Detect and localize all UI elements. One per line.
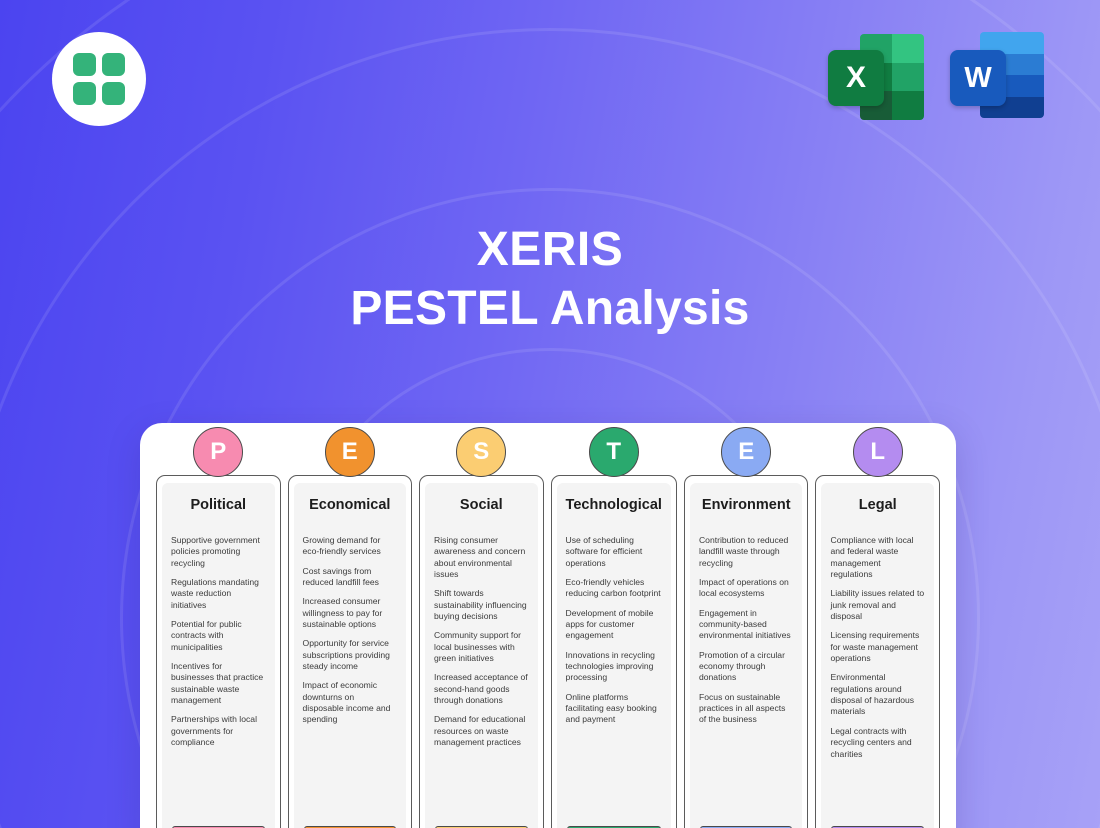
pestel-column-economical[interactable]: EEconomicalGrowing demand for eco-friend… [288,475,413,828]
column-bullet-list: Rising consumer awareness and concern ab… [434,535,529,826]
list-item: Compliance with local and federal waste … [830,535,925,580]
pestel-columns: PPoliticalSupportive government policies… [156,475,940,828]
list-item: Engagement in community-based environmen… [699,608,794,642]
column-heading: Technological [566,497,662,513]
logo-tile [102,82,125,105]
logo-tile [73,82,96,105]
column-panel: TechnologicalUse of scheduling software … [557,483,671,828]
list-item: Eco-friendly vehicles reducing carbon fo… [566,577,662,600]
column-heading: Legal [830,497,925,513]
list-item: Innovations in recycling technologies im… [566,650,662,684]
list-item: Legal contracts with recycling centers a… [830,726,925,760]
letter-badge: L [853,427,903,477]
letter-badge: E [325,427,375,477]
brand-logo [52,32,146,126]
column-bullet-list: Compliance with local and federal waste … [830,535,925,826]
letter-badge: P [193,427,243,477]
letter-badge: E [721,427,771,477]
letter-badge: S [456,427,506,477]
list-item: Promotion of a circular economy through … [699,650,794,684]
list-item: Partnerships with local governments for … [171,714,266,748]
list-item: Environmental regulations around disposa… [830,672,925,717]
list-item: Development of mobile apps for customer … [566,608,662,642]
column-bullet-list: Supportive government policies promoting… [171,535,266,826]
list-item: Contribution to reduced landfill waste t… [699,535,794,569]
column-bullet-list: Growing demand for eco-friendly services… [303,535,398,826]
column-panel: EconomicalGrowing demand for eco-friendl… [294,483,407,828]
list-item: Online platforms facilitating easy booki… [566,692,662,726]
column-bullet-list: Contribution to reduced landfill waste t… [699,535,794,826]
list-item: Community support for local businesses w… [434,630,529,664]
column-bullet-list: Use of scheduling software for efficient… [566,535,662,826]
column-heading: Economical [303,497,398,513]
list-item: Increased consumer willingness to pay fo… [303,596,398,630]
pestel-column-political[interactable]: PPoliticalSupportive government policies… [156,475,281,828]
pestel-column-social[interactable]: SSocialRising consumer awareness and con… [419,475,544,828]
list-item: Regulations mandating waste reduction in… [171,577,266,611]
word-letter: W [950,50,1006,106]
list-item: Rising consumer awareness and concern ab… [434,535,529,580]
list-item: Use of scheduling software for efficient… [566,535,662,569]
column-heading: Political [171,497,266,513]
pestel-column-environment[interactable]: EEnvironmentContribution to reduced land… [684,475,809,828]
list-item: Liability issues related to junk removal… [830,588,925,622]
list-item: Impact of operations on local ecosystems [699,577,794,600]
column-heading: Environment [699,497,794,513]
list-item: Potential for public contracts with muni… [171,619,266,653]
column-panel: EnvironmentContribution to reduced landf… [690,483,803,828]
excel-icon[interactable]: X [828,28,926,120]
list-item: Demand for educational resources on wast… [434,714,529,748]
title-brand: XERIS [0,222,1100,278]
list-item: Impact of economic downturns on disposab… [303,680,398,725]
pestel-column-technological[interactable]: TTechnologicalUse of scheduling software… [551,475,677,828]
list-item: Supportive government policies promoting… [171,535,266,569]
list-item: Incentives for businesses that practice … [171,661,266,706]
list-item: Growing demand for eco-friendly services [303,535,398,558]
logo-tile [102,53,125,76]
office-app-icons: X W [828,28,1046,120]
column-panel: LegalCompliance with local and federal w… [821,483,934,828]
letter-badge: T [589,427,639,477]
list-item: Licensing requirements for waste managem… [830,630,925,664]
list-item: Increased acceptance of second-hand good… [434,672,529,706]
column-panel: SocialRising consumer awareness and conc… [425,483,538,828]
list-item: Focus on sustainable practices in all as… [699,692,794,726]
list-item: Opportunity for service subscriptions pr… [303,638,398,672]
list-item: Shift towards sustainability influencing… [434,588,529,622]
pestel-card: PPoliticalSupportive government policies… [140,423,956,828]
page-title: XERIS PESTEL Analysis [0,222,1100,340]
column-heading: Social [434,497,529,513]
title-subject: PESTEL Analysis [0,278,1100,340]
grid-logo-icon [73,53,125,105]
excel-letter: X [828,50,884,106]
pestel-column-legal[interactable]: LLegalCompliance with local and federal … [815,475,940,828]
logo-tile [73,53,96,76]
list-item: Cost savings from reduced landfill fees [303,566,398,589]
word-icon[interactable]: W [948,28,1046,120]
column-panel: PoliticalSupportive government policies … [162,483,275,828]
